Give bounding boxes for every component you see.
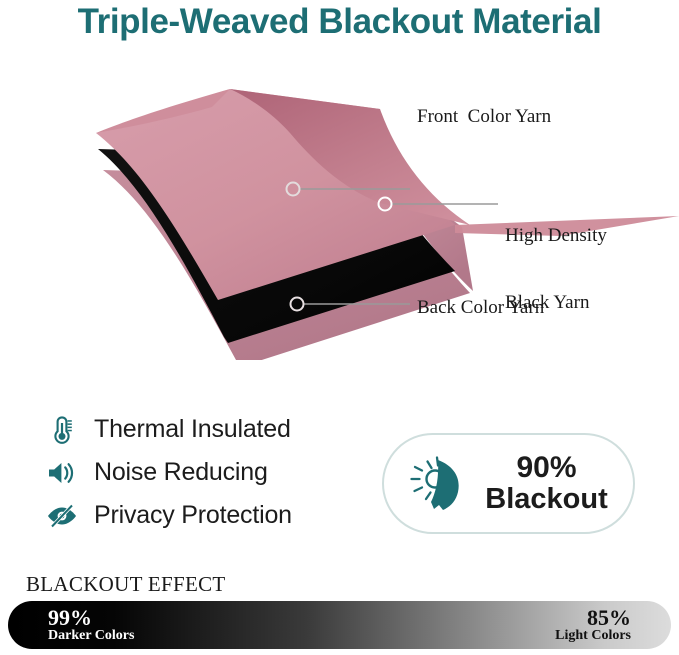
blackout-effect-darker-colors: 99% Darker Colors [48, 606, 134, 644]
blackout-percentage-badge: 90% Blackout [382, 433, 635, 534]
blackout-badge-text: 90% Blackout [485, 452, 607, 516]
blackout-effect-gradient-bar: 99% Darker Colors 85% Light Colors [8, 601, 671, 649]
callout-label-line-1: High Density [505, 225, 607, 247]
darker-colors-percent: 99% [48, 606, 134, 629]
feature-item-thermal-insulated: Thermal Insulated [42, 408, 372, 451]
callout-label-front-color-yarn: Front Color Yarn [417, 106, 551, 128]
feature-label: Thermal Insulated [94, 415, 291, 444]
light-colors-percent: 85% [555, 606, 631, 629]
blackout-word: Blackout [485, 484, 607, 515]
blackout-percent: 90% [485, 452, 607, 484]
sun-behind-curtain-icon [409, 452, 477, 516]
feature-label: Privacy Protection [94, 501, 292, 530]
blackout-effect-heading: BLACKOUT EFFECT [26, 572, 226, 597]
feature-label: Noise Reducing [94, 458, 268, 487]
speaker-sound-icon [42, 455, 82, 491]
page-title: Triple-Weaved Blackout Material [0, 2, 679, 42]
feature-item-privacy-protection: Privacy Protection [42, 494, 372, 537]
feature-list: Thermal Insulated Noise Reducing Privacy… [42, 408, 372, 537]
eye-slash-icon [42, 498, 82, 534]
light-colors-caption: Light Colors [555, 629, 631, 644]
feature-item-noise-reducing: Noise Reducing [42, 451, 372, 494]
thermometer-icon [42, 412, 82, 448]
blackout-effect-light-colors: 85% Light Colors [555, 606, 631, 644]
callout-label-back-color-yarn: Back Color Yarn [417, 297, 544, 319]
darker-colors-caption: Darker Colors [48, 629, 134, 644]
